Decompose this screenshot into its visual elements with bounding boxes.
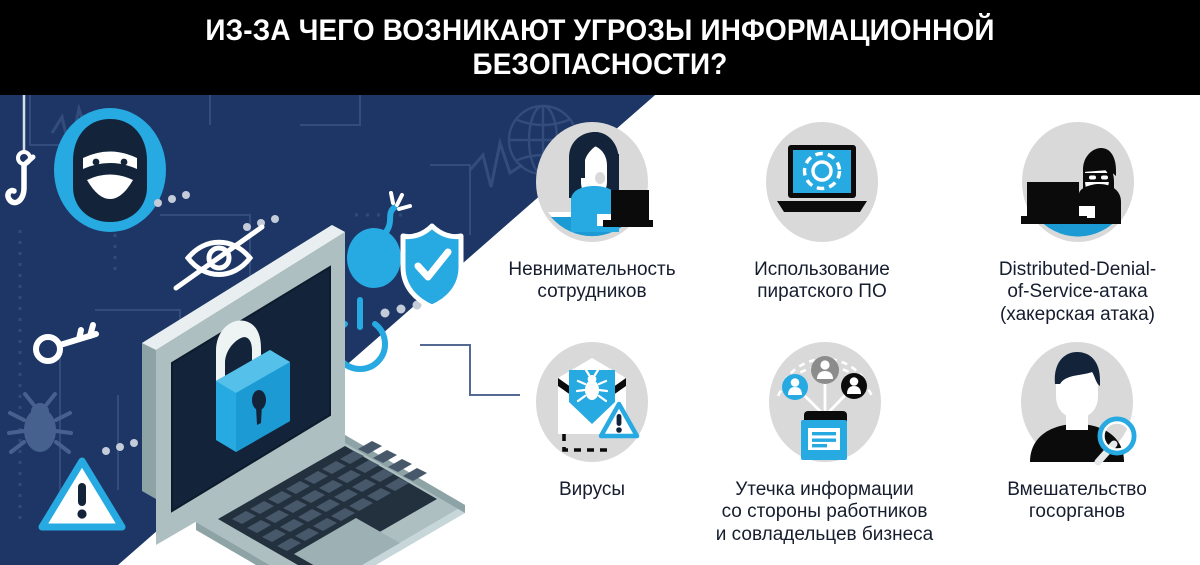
threat-card-label: Невнимательность сотрудников [482, 259, 702, 304]
threat-card-government-interference[interactable]: Вмешательство госорганов [967, 340, 1187, 524]
threat-card-label: Вмешательство госорганов [967, 479, 1187, 524]
threat-card-label: Утечка информации со стороны работников … [702, 479, 947, 546]
envelope-bug-warning-icon [531, 340, 653, 470]
threat-card-inattentive-employees[interactable]: Невнимательность сотрудников [482, 120, 702, 304]
threat-card-viruses[interactable]: Вирусы [482, 340, 702, 501]
threat-card-pirated-software[interactable]: Использование пиратского ПО [712, 120, 932, 304]
users-network-tablet-icon [764, 340, 886, 470]
avatar-gray [811, 356, 839, 384]
hacker-at-laptop-icon [1017, 120, 1139, 250]
threat-card-ddos-attack[interactable]: Distributed-Denial- of-Service-атака (ха… [955, 120, 1200, 326]
page-title: ИЗ-ЗА ЧЕГО ВОЗНИКАЮТ УГРОЗЫ ИНФОРМАЦИОНН… [130, 14, 1069, 81]
woman-at-laptop-icon [531, 120, 653, 250]
laptop-gear-icon [761, 120, 883, 250]
header-bar: ИЗ-ЗА ЧЕГО ВОЗНИКАЮТ УГРОЗЫ ИНФОРМАЦИОНН… [0, 0, 1200, 95]
threat-card-information-leak[interactable]: Утечка информации со стороны работников … [702, 340, 947, 546]
avatar-blue [782, 374, 808, 400]
avatar-black [841, 373, 867, 399]
threat-cards-grid: Невнимательность сотрудников [480, 100, 1200, 565]
person-magnifier-icon [1016, 340, 1138, 470]
threat-card-label: Distributed-Denial- of-Service-атака (ха… [955, 259, 1200, 326]
infographic-page: ИЗ-ЗА ЧЕГО ВОЗНИКАЮТ УГРОЗЫ ИНФОРМАЦИОНН… [0, 0, 1200, 565]
shield-check-icon [403, 226, 461, 307]
hacker-avatar-icon [54, 108, 166, 232]
threat-card-label: Вирусы [482, 479, 702, 501]
threat-card-label: Использование пиратского ПО [712, 259, 932, 304]
